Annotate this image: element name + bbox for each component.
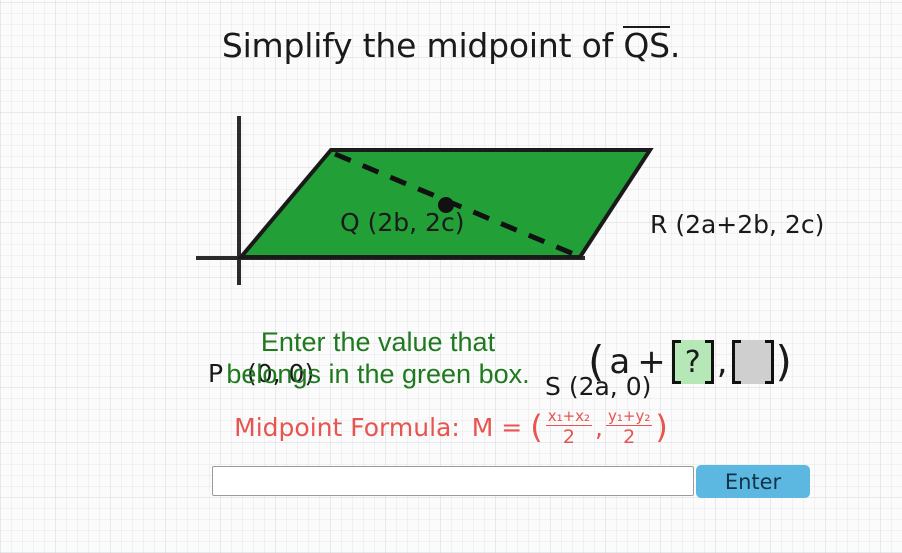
formula-x-denominator: 2 <box>546 425 592 448</box>
green-answer-box[interactable]: ? <box>672 340 714 384</box>
worksheet-stage: Simplify the midpoint of QS. Q (2b, 2c) … <box>0 0 902 553</box>
page-title: Simplify the midpoint of QS. <box>0 26 902 65</box>
answer-expression: ( a + ? , ) <box>588 334 792 390</box>
geometry-figure: Q (2b, 2c) R (2a+2b, 2c) P (0, 0) S (2a,… <box>0 100 902 305</box>
vertex-label-r: R (2a+2b, 2c) <box>650 210 824 239</box>
expression-close-paren: ) <box>776 343 792 381</box>
formula-m: M <box>472 413 494 442</box>
formula-y-numerator: y₁+y₂ <box>606 408 652 425</box>
title-text-after: . <box>670 26 680 65</box>
expression-comma: , <box>717 342 728 382</box>
formula-label: Midpoint Formula: <box>234 413 460 442</box>
formula-x-fraction: x₁+x₂2 <box>546 408 592 448</box>
title-segment-qs: QS <box>623 26 670 62</box>
midpoint-formula: Midpoint Formula:M = (x₁+x₂2,y₁+y₂2) <box>0 408 902 449</box>
enter-button[interactable]: Enter <box>696 465 810 498</box>
expression-open-paren: ( <box>588 343 604 381</box>
formula-x-numerator: x₁+x₂ <box>546 408 592 425</box>
formula-y-denominator: 2 <box>606 425 652 448</box>
expression-plus-sign: + <box>637 342 666 382</box>
instruction-line-2: belongs in the green box. <box>178 359 578 391</box>
formula-close-paren: ) <box>655 408 667 446</box>
instruction-line-1: Enter the value that <box>178 327 578 359</box>
title-text-before: Simplify the midpoint of <box>222 26 623 65</box>
instruction-text: Enter the value that belongs in the gree… <box>178 327 578 391</box>
formula-y-fraction: y₁+y₂2 <box>606 408 652 448</box>
formula-equals: = <box>501 413 522 442</box>
expression-term-a: a <box>609 342 630 382</box>
parallelogram-diagram <box>0 100 902 305</box>
vertex-label-q: Q (2b, 2c) <box>340 208 464 237</box>
answer-input[interactable] <box>212 466 694 496</box>
gray-answer-box <box>732 340 774 384</box>
formula-comma: , <box>595 413 603 442</box>
formula-open-paren: ( <box>530 408 542 446</box>
